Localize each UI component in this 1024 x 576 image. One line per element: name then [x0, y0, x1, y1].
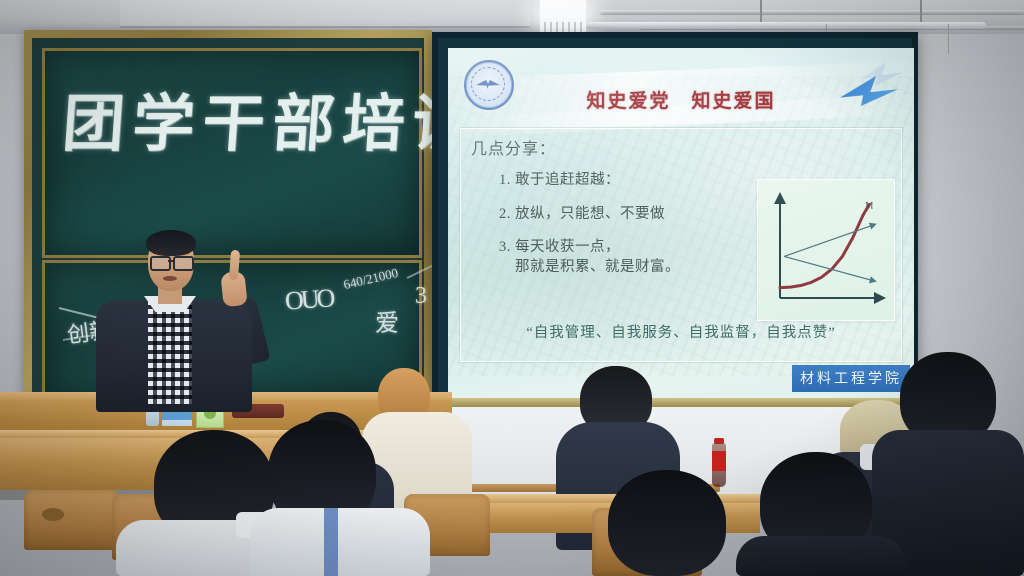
svg-text:M: M [865, 201, 873, 211]
light-tube [586, 22, 986, 29]
speaker-mouth [163, 276, 177, 281]
blackboard-heading: 团学干部培训 [60, 73, 486, 163]
chair-back [24, 490, 120, 550]
bullet-text: 放纵，只能想、不要做 [515, 206, 665, 222]
speaker-plaid-shirt [148, 300, 192, 404]
chalk-note-ratio: 640/21000 [342, 265, 400, 293]
list-item: 3. 每天收获一点， 那就是积累、就是财富。 [499, 238, 739, 277]
whiteboard-rail [434, 398, 920, 407]
bullet-text: 敢于追赶超越： [515, 172, 620, 188]
coca-cola-label [712, 451, 726, 471]
chalk-note-ouo: OUO [284, 283, 333, 316]
speaker-glasses-bridge [168, 260, 174, 262]
speaker-brow [175, 251, 189, 254]
slide-bullet-list: 1. 敢于追赶超越： 2. 放纵，只能想、不要做 3. 每天收获一点， 那就是积… [499, 171, 739, 291]
bullet-text: 每天收获一点， [515, 239, 620, 255]
slide-content-box: 几点分享： 1. 敢于追赶超越： 2. 放纵，只能想、不要做 3. 每天收获一 [460, 128, 902, 362]
bullet-number: 3. [499, 239, 511, 255]
chalk-note-three: 3 [415, 283, 427, 310]
bullet-text-second-line: 那就是积累、就是财富。 [499, 258, 739, 278]
slide-chart: M [757, 179, 895, 321]
projection-screen-bezel: 知史爱党 知史爱国 几点分享： 1. 敢于追赶超越： 2. 放纵，只能想、不要做 [438, 38, 912, 396]
blackboard-panel-top: 团学干部培训 [42, 48, 422, 258]
slide-title: 知史爱党 知史爱国 [448, 86, 914, 113]
lanyard-strap [324, 508, 338, 576]
ceiling-light [540, 0, 586, 24]
pipe-hook [948, 24, 949, 54]
ceiling-light-diffuser [540, 22, 586, 32]
bullet-number: 1. [499, 172, 511, 188]
speaker-brow [153, 251, 167, 254]
conduit-bracket [920, 0, 922, 22]
bullet-number: 2. [499, 206, 511, 222]
slide-quote: “自我管理、自我服务、自我监督，自我点赞” [461, 321, 901, 342]
ceiling-slab [120, 0, 530, 28]
slide-footer-badge: 材料工程学院 [792, 365, 910, 392]
speaker-glasses-right [173, 256, 194, 271]
list-item: 2. 放纵，只能想、不要做 [499, 205, 739, 225]
conduit-bracket [760, 0, 762, 22]
chalk-note-love: 爱 [375, 303, 399, 338]
chart-svg: M [758, 180, 894, 320]
speaker-glasses-left [150, 256, 171, 271]
student-white-shirt [250, 508, 430, 576]
classroom-scene: 团学干部培训 创新 3 20 OUO 640/21000 爱 % 3 1 1 [0, 0, 1024, 576]
ceiling-conduit [600, 10, 1024, 15]
share-heading: 几点分享： [471, 135, 556, 159]
student-hair-curly [608, 470, 726, 576]
list-item: 1. 敢于追赶超越： [499, 171, 739, 191]
projection-screen-frame: 知史爱党 知史爱国 几点分享： 1. 敢于追赶超越： 2. 放纵，只能想、不要做 [432, 32, 918, 402]
presentation-slide: 知史爱党 知史爱国 几点分享： 1. 敢于追赶超越： 2. 放纵，只能想、不要做 [448, 48, 914, 398]
tissue-box-band [162, 412, 192, 420]
student-jacket [736, 536, 906, 576]
chair-handle-hole [42, 508, 64, 521]
